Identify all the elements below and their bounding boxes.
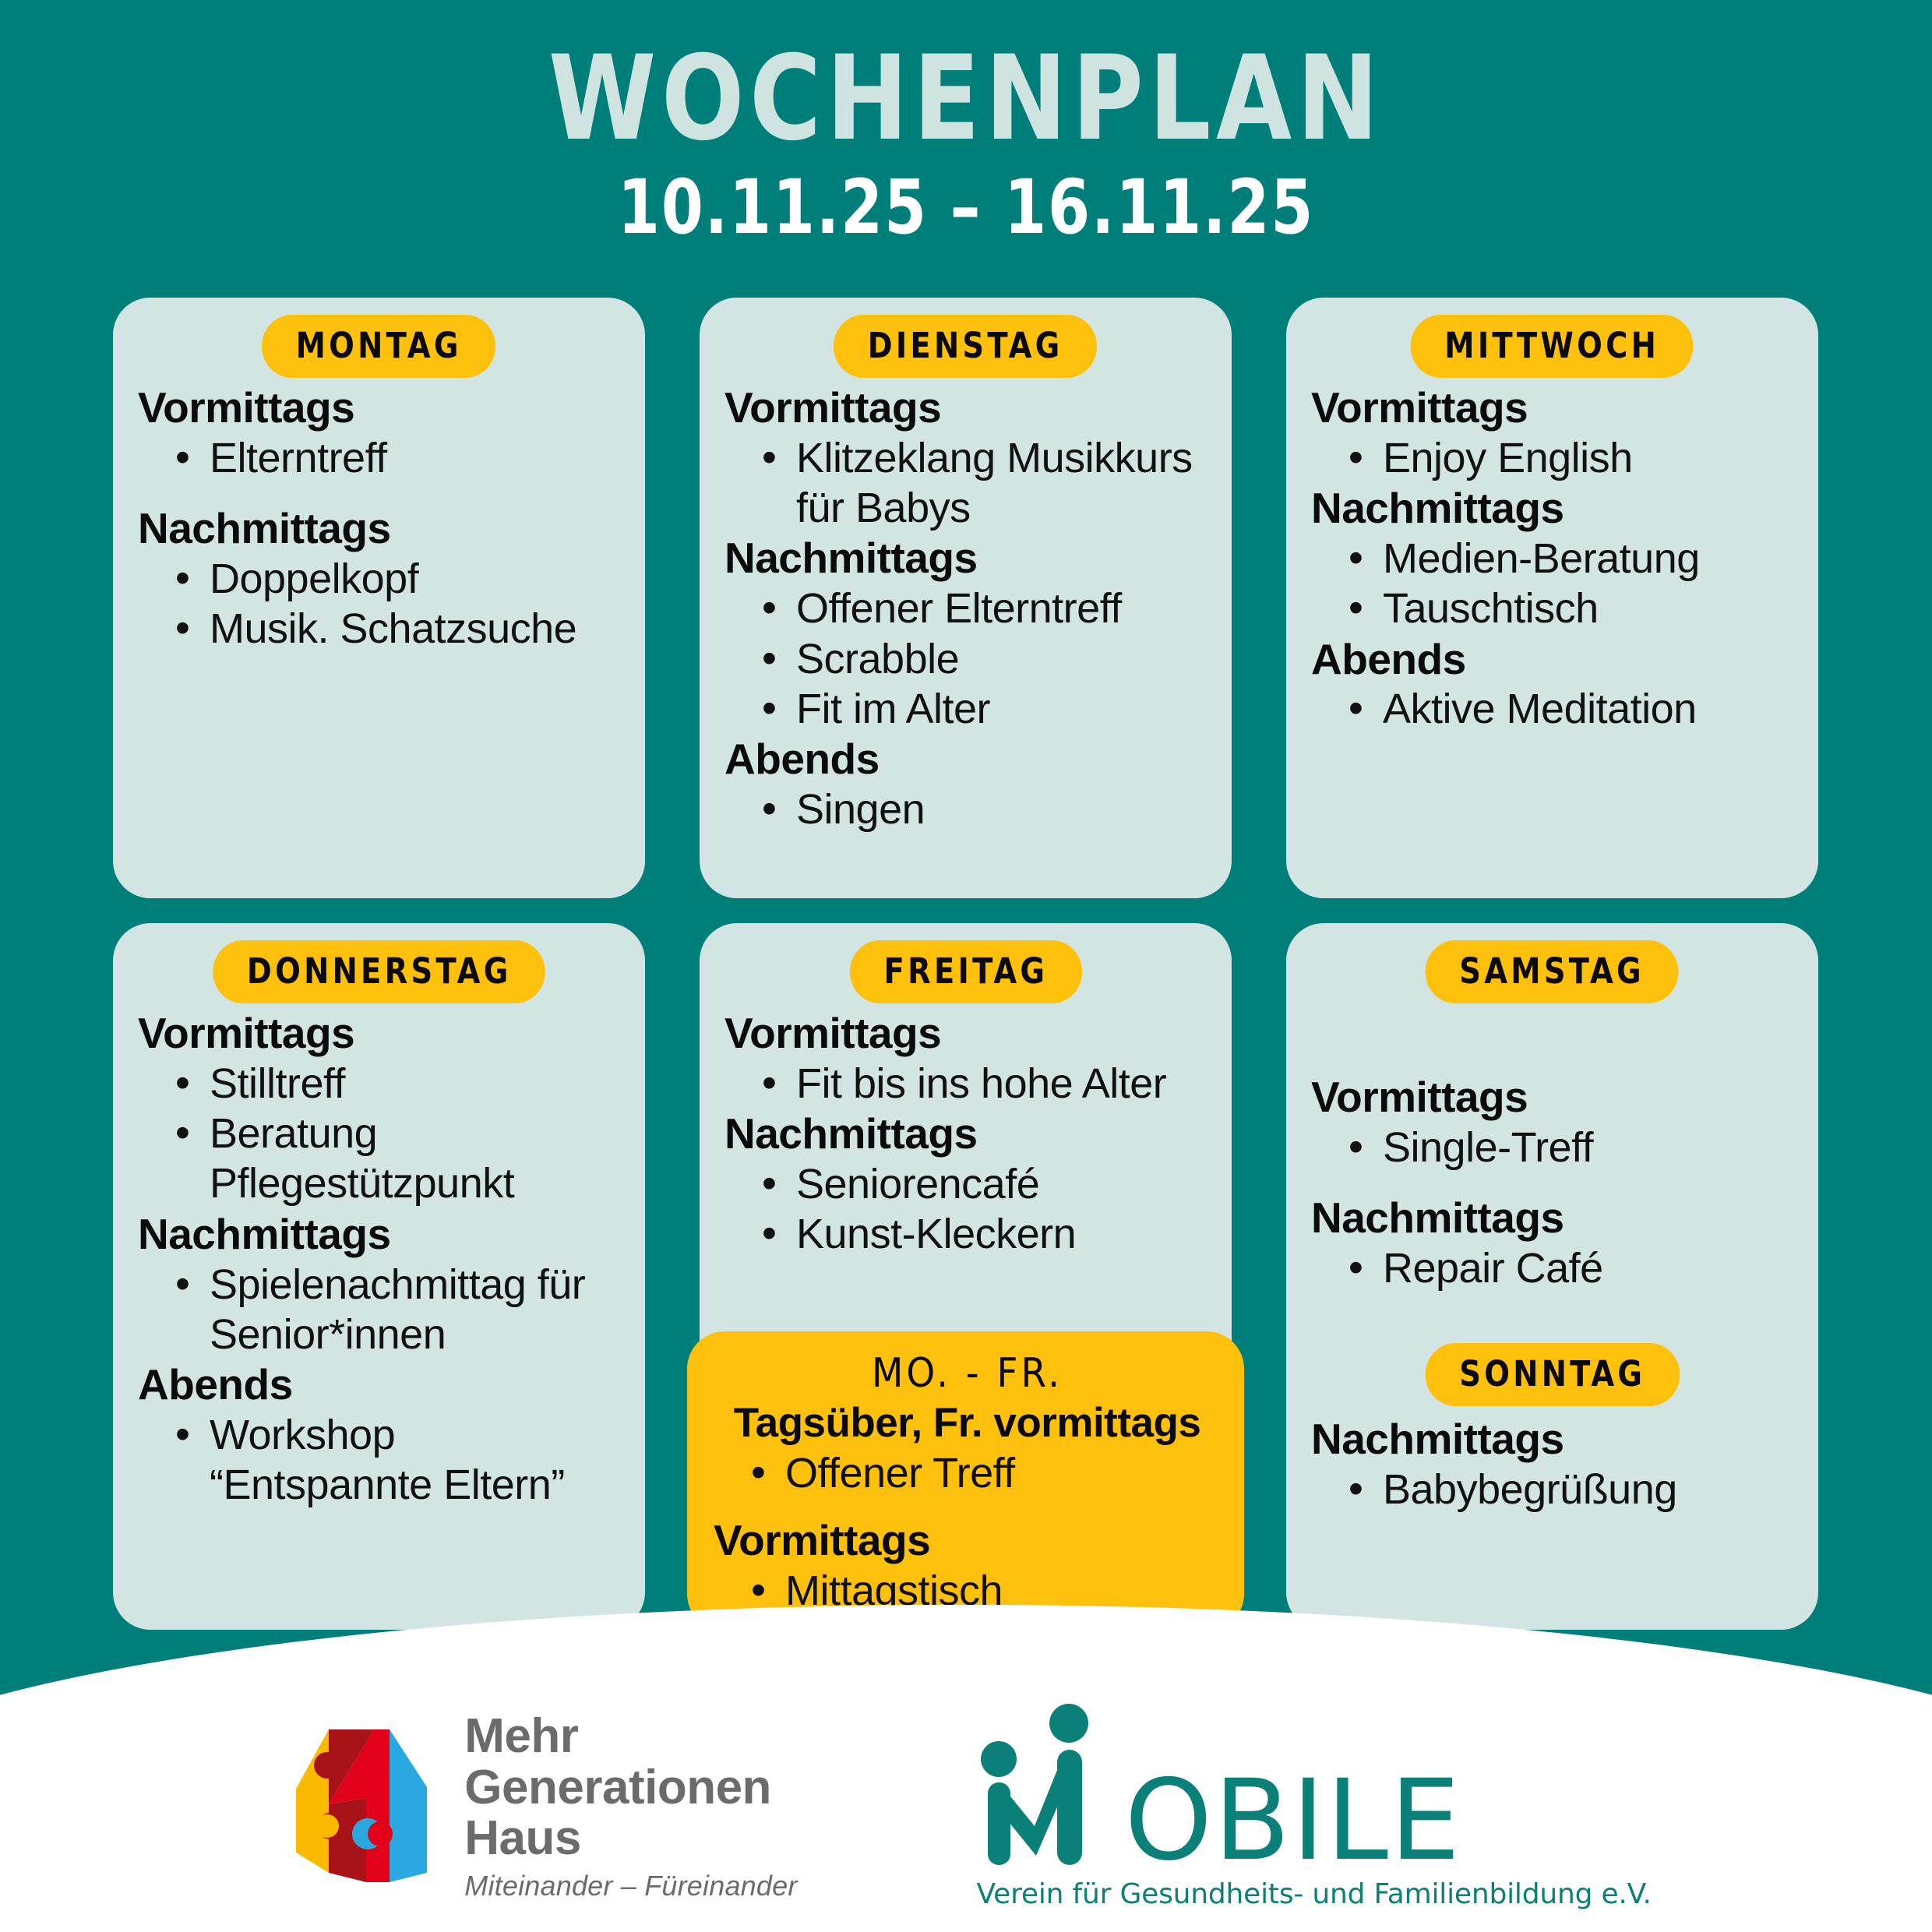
week-row-1: MONTAG Vormittags Elterntreff Nachmittag… — [113, 298, 1819, 898]
list-item: Doppelkopf — [175, 554, 622, 604]
poster-header: WOCHENPLAN 10.11.25 – 16.11.25 — [0, 0, 1932, 280]
mo-fr-highlight-box: MO. - FR. Tagsüber, Fr. vormittags Offen… — [687, 1331, 1244, 1631]
list-item: Kunst-Kleckern — [762, 1209, 1208, 1259]
section-label: Abends — [138, 1359, 622, 1410]
mobile-wordmark-row: OBILE — [977, 1701, 1462, 1869]
mgh-tagline: Miteinander – Füreinander — [464, 1871, 797, 1901]
mobile-wordmark: OBILE — [1125, 1773, 1462, 1869]
day-content-sonntag: Nachmittags Babybegrüßung — [1286, 1406, 1818, 1514]
day-pill-wrap-mittwoch: MITTWOCH — [1286, 298, 1818, 378]
section-label: Nachmittags — [724, 1109, 1208, 1159]
section-label: Vormittags — [1311, 1072, 1795, 1123]
week-grid: MONTAG Vormittags Elterntreff Nachmittag… — [113, 298, 1819, 1630]
footer-logos: Mehr Generationen Haus Miteinander – Für… — [0, 1605, 1932, 1932]
mgh-wordmark: Mehr Generationen Haus Miteinander – Für… — [464, 1711, 797, 1901]
day-pill-mittwoch: MITTWOCH — [1411, 315, 1694, 378]
list-item: Babybegrüßung — [1349, 1465, 1795, 1514]
mo-fr-items: Offener Treff — [714, 1448, 1221, 1498]
day-pill-sonntag: SONNTAG — [1425, 1343, 1679, 1406]
day-pill-wrap-dienstag: DIENSTAG — [700, 298, 1232, 378]
page-title: WOCHENPLAN — [68, 0, 1864, 157]
section-items: Single-Treff — [1311, 1123, 1795, 1172]
day-pill-samstag: SAMSTAG — [1426, 940, 1679, 1003]
mo-fr-range-label: MO. - FR. — [714, 1352, 1221, 1396]
poster-footer: Mehr Generationen Haus Miteinander – Für… — [0, 1605, 1932, 1932]
mobile-tagline: Verein für Gesundheits- und Familienbild… — [977, 1878, 1652, 1910]
day-pill-dienstag: DIENSTAG — [834, 315, 1097, 378]
mgh-line-3: Haus — [464, 1813, 797, 1864]
section-items: Elterntreff — [138, 433, 622, 483]
section-label: Vormittags — [138, 383, 622, 433]
section-items: Fit bis ins hohe Alter — [724, 1059, 1208, 1109]
section-label: Vormittags — [714, 1515, 1221, 1566]
section-items: Aktive Meditation — [1311, 684, 1795, 734]
mobile-logo: OBILE Verein für Gesundheits- und Famili… — [977, 1701, 1652, 1910]
day-pill-wrap-sonntag: SONNTAG — [1286, 1293, 1818, 1406]
section-items: Medien-Beratung Tauschtisch — [1311, 534, 1795, 634]
mgh-line-1: Mehr — [464, 1711, 797, 1762]
section-items: Singen — [724, 784, 1208, 834]
list-item: Single-Treff — [1349, 1123, 1795, 1172]
list-item: Singen — [762, 784, 1208, 834]
section-label: Nachmittags — [1311, 1414, 1795, 1465]
day-content-montag: Vormittags Elterntreff Nachmittags Doppe… — [113, 378, 645, 654]
list-item: Beratung Pflegestützpunkt — [175, 1109, 622, 1209]
day-pill-donnerstag: DONNERSTAG — [213, 940, 545, 1003]
list-item: Medien-Beratung — [1349, 534, 1795, 583]
section-items: Babybegrüßung — [1311, 1465, 1795, 1514]
day-pill-freitag: FREITAG — [849, 940, 1081, 1003]
section-items: Offener Elterntreff Scrabble Fit im Alte… — [724, 583, 1208, 734]
list-item: Fit bis ins hohe Alter — [762, 1059, 1208, 1109]
week-row-2: DONNERSTAG Vormittags Stilltreff Beratun… — [113, 923, 1819, 1630]
day-card-freitag: FREITAG Vormittags Fit bis ins hohe Alte… — [700, 923, 1232, 1630]
list-item: Tauschtisch — [1349, 583, 1795, 633]
list-item: Klitzeklang Musikkurs für Babys — [762, 433, 1208, 534]
section-label: Vormittags — [138, 1008, 622, 1059]
list-item: Workshop “Entspannte Eltern” — [175, 1410, 622, 1511]
day-content-mittwoch: Vormittags Enjoy English Nachmittags Med… — [1286, 378, 1818, 735]
list-item: Enjoy English — [1349, 433, 1795, 483]
day-card-dienstag: DIENSTAG Vormittags Klitzeklang Musikkur… — [700, 298, 1232, 898]
mgh-line-2: Generationen — [464, 1762, 797, 1814]
section-label: Nachmittags — [1311, 483, 1795, 534]
section-items: Doppelkopf Musik. Schatzsuche — [138, 554, 622, 654]
section-items: Klitzeklang Musikkurs für Babys — [724, 433, 1208, 534]
list-item: Spielenachmittag für Senior*innen — [175, 1260, 622, 1360]
list-item: Elterntreff — [175, 433, 622, 483]
date-range: 10.11.25 – 16.11.25 — [97, 157, 1835, 245]
list-item: Aktive Meditation — [1349, 684, 1795, 734]
section-label: Vormittags — [1311, 383, 1795, 433]
list-item: Scrabble — [762, 634, 1208, 684]
section-label: Nachmittags — [1311, 1193, 1795, 1243]
day-content-dienstag: Vormittags Klitzeklang Musikkurs für Bab… — [700, 378, 1232, 834]
day-pill-wrap-donnerstag: DONNERSTAG — [113, 923, 645, 1003]
mo-fr-sub-label: Tagsüber, Fr. vormittags — [714, 1399, 1221, 1448]
day-pill-wrap-samstag: SAMSTAG — [1286, 923, 1818, 1003]
section-label: Nachmittags — [138, 503, 622, 554]
list-item: Offener Treff — [751, 1448, 1221, 1498]
section-items: Stilltreff Beratung Pflegestützpunkt — [138, 1059, 622, 1209]
day-content-freitag: Vormittags Fit bis ins hohe Alter Nachmi… — [700, 1003, 1232, 1260]
day-card-donnerstag: DONNERSTAG Vormittags Stilltreff Beratun… — [113, 923, 645, 1630]
section-label: Nachmittags — [724, 533, 1208, 583]
adult-and-child-m-icon — [977, 1701, 1125, 1869]
section-items: Repair Café — [1311, 1243, 1795, 1293]
day-content-donnerstag: Vormittags Stilltreff Beratung Pflegestü… — [113, 1003, 645, 1510]
section-label: Abends — [724, 734, 1208, 784]
section-label: Vormittags — [724, 1008, 1208, 1059]
section-label: Vormittags — [724, 383, 1208, 433]
list-item: Repair Café — [1349, 1243, 1795, 1293]
day-card-samstag-sonntag: SAMSTAG Vormittags Single-Treff Nachmitt… — [1286, 923, 1818, 1630]
day-card-mittwoch: MITTWOCH Vormittags Enjoy English Nachmi… — [1286, 298, 1818, 898]
section-label: Abends — [1311, 634, 1795, 685]
section-items: Seniorencafé Kunst-Kleckern — [724, 1159, 1208, 1260]
section-items: Workshop “Entspannte Eltern” — [138, 1410, 622, 1511]
list-item: Seniorencafé — [762, 1159, 1208, 1209]
day-pill-montag: MONTAG — [262, 315, 495, 378]
day-card-montag: MONTAG Vormittags Elterntreff Nachmittag… — [113, 298, 645, 898]
section-items: Enjoy English — [1311, 433, 1795, 483]
section-items: Spielenachmittag für Senior*innen — [138, 1260, 622, 1360]
list-item: Offener Elterntreff — [762, 583, 1208, 633]
day-content-samstag: Vormittags Single-Treff Nachmittags Repa… — [1286, 1003, 1818, 1293]
list-item: Stilltreff — [175, 1059, 622, 1109]
mehrgenerationenhaus-logo: Mehr Generationen Haus Miteinander – Für… — [280, 1711, 797, 1901]
puzzle-house-icon — [280, 1720, 436, 1891]
section-label: Nachmittags — [138, 1209, 622, 1260]
list-item: Fit im Alter — [762, 684, 1208, 734]
day-pill-wrap-freitag: FREITAG — [700, 923, 1232, 1003]
day-pill-wrap-montag: MONTAG — [113, 298, 645, 378]
list-item: Musik. Schatzsuche — [175, 604, 622, 654]
